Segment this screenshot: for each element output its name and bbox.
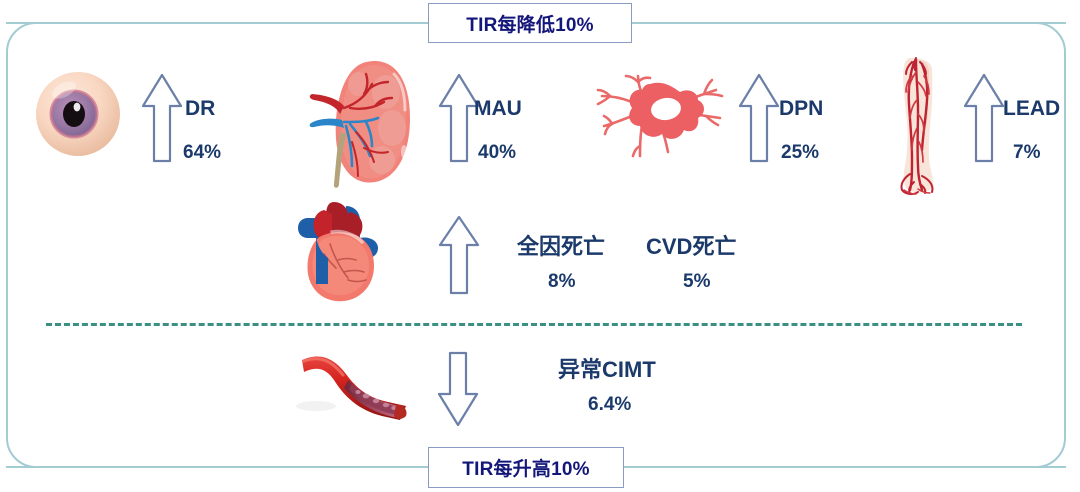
- infographic-canvas: TIR每降低10%: [0, 0, 1080, 492]
- arrow-up: [140, 72, 184, 164]
- heart-icon: [288, 198, 388, 308]
- metric-value-lead: 7%: [1013, 142, 1040, 164]
- footer-title-chip: TIR每升高10%: [428, 447, 624, 488]
- metric-value-dpn: 25%: [781, 142, 819, 164]
- eye-icon: [30, 66, 126, 162]
- rail-bottom-right: [650, 466, 1066, 468]
- arrow-up: [737, 72, 781, 164]
- metric-label-cvd-mortality: CVD死亡: [646, 229, 736, 261]
- arrow-down: [435, 350, 481, 428]
- arrow-up: [437, 214, 481, 296]
- metric-value-cvd-mortality: 5%: [683, 271, 710, 293]
- metric-label-dr: DR: [185, 97, 215, 121]
- leg-artery-icon: [888, 56, 952, 196]
- metric-label-mau: MAU: [474, 97, 522, 121]
- metric-label-lead: LEAD: [1003, 97, 1060, 121]
- kidney-icon: [306, 56, 416, 191]
- nerve-cell-icon: [588, 68, 728, 158]
- metric-value-all-cause-mortality: 8%: [548, 271, 575, 293]
- rail-bottom-left: [6, 466, 430, 468]
- rail-top-left: [6, 22, 430, 24]
- blood-vessel-icon: [296, 346, 426, 426]
- arrow-up: [962, 72, 1006, 164]
- metric-label-abnormal-cimt: 异常CIMT: [558, 352, 656, 384]
- section-divider: [46, 323, 1022, 326]
- metric-label-dpn: DPN: [779, 97, 823, 121]
- rail-top-right: [650, 22, 1066, 24]
- metric-value-mau: 40%: [478, 142, 516, 164]
- metric-value-abnormal-cimt: 6.4%: [588, 394, 631, 416]
- metric-value-dr: 64%: [183, 142, 221, 164]
- header-title-chip: TIR每降低10%: [428, 3, 632, 43]
- metric-label-all-cause-mortality: 全因死亡: [517, 229, 605, 261]
